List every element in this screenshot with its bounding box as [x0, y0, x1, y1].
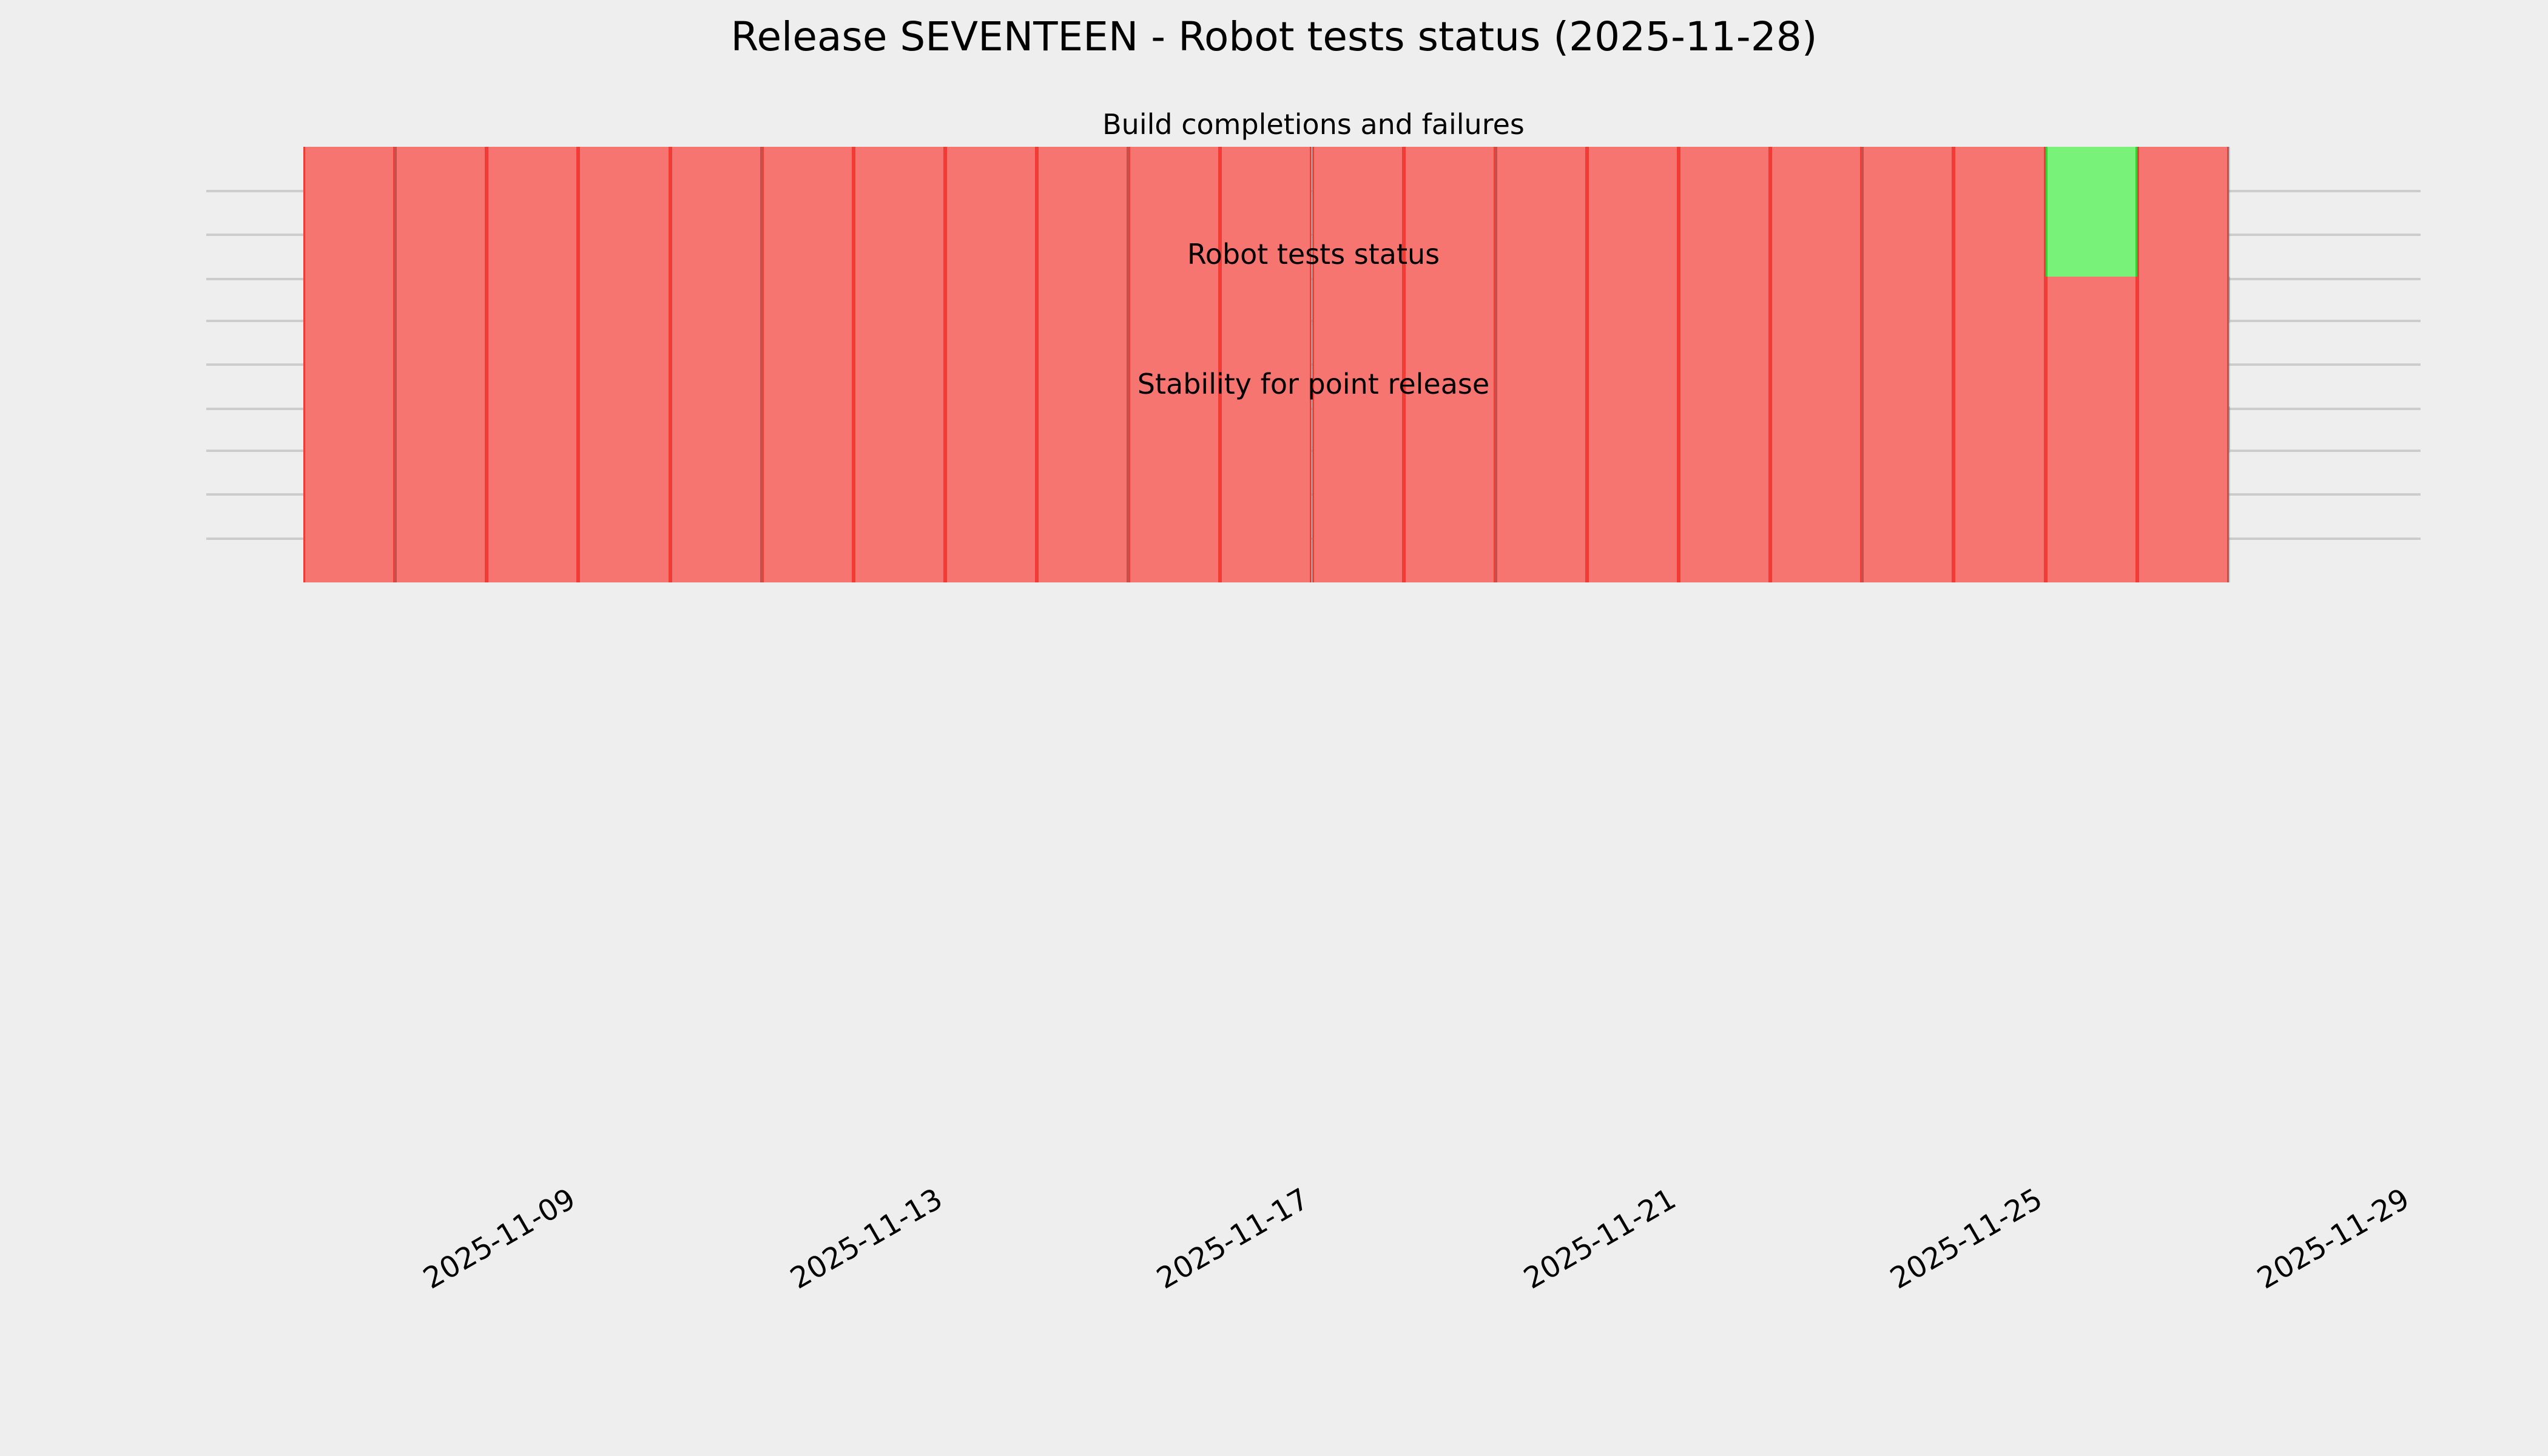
bar-2025-11-25-fail[interactable]: [1862, 406, 1953, 582]
bar-2025-11-27-fail[interactable]: [2046, 406, 2137, 582]
bar-2025-11-23-fail[interactable]: [1679, 406, 1770, 582]
x-tick-label: 2025-11-13: [784, 1182, 948, 1296]
bar-2025-11-26-fail[interactable]: [1953, 406, 2045, 582]
vertical-gridline: [1861, 406, 1863, 582]
x-tick-label: 2025-11-17: [1151, 1182, 1315, 1296]
bar-2025-11-18-fail[interactable]: [1220, 406, 1312, 582]
bar-2025-11-15-fail[interactable]: [945, 406, 1037, 582]
bar-2025-11-21-fail[interactable]: [1495, 406, 1587, 582]
vertical-gridline: [761, 406, 763, 582]
bar-2025-11-14-fail[interactable]: [854, 406, 945, 582]
bar-2025-11-11-fail[interactable]: [578, 406, 670, 582]
bar-2025-11-13-fail[interactable]: [762, 406, 854, 582]
bar-2025-11-24-fail[interactable]: [1770, 406, 1862, 582]
x-tick-label: 2025-11-25: [1885, 1182, 2049, 1296]
x-tick-label: 2025-11-21: [1518, 1182, 1682, 1296]
bar-series: [206, 406, 2421, 582]
bar-2025-11-12-fail[interactable]: [670, 406, 762, 582]
x-tick-label: 2025-11-29: [2251, 1182, 2415, 1296]
bar-2025-11-09-fail[interactable]: [395, 406, 487, 582]
bar-2025-11-10-fail[interactable]: [487, 406, 578, 582]
bar-2025-11-16-fail[interactable]: [1037, 406, 1128, 582]
x-tick-label: 2025-11-09: [417, 1182, 581, 1296]
bar-2025-11-08-fail[interactable]: [303, 406, 395, 582]
figure-suptitle: Release SEVENTEEN - Robot tests status (…: [0, 13, 2548, 60]
x-axis-tick-labels: 2025-11-092025-11-132025-11-172025-11-21…: [0, 1182, 2548, 1364]
figure-canvas: Release SEVENTEEN - Robot tests status (…: [0, 0, 2548, 1456]
subplot-title: Build completions and failures: [206, 108, 2421, 141]
bar-2025-11-22-fail[interactable]: [1587, 406, 1679, 582]
vertical-gridline: [394, 406, 396, 582]
plot-area: [206, 406, 2421, 582]
bar-2025-11-28-fail[interactable]: [2137, 406, 2229, 582]
bar-2025-11-20-fail[interactable]: [1404, 406, 1495, 582]
subplot-title: Robot tests status: [206, 238, 2421, 271]
bar-2025-11-19-fail[interactable]: [1312, 406, 1404, 582]
subplot-title: Stability for point release: [206, 368, 2421, 400]
vertical-gridline: [1127, 406, 1130, 582]
bar-2025-11-17-fail[interactable]: [1128, 406, 1220, 582]
vertical-gridline: [1494, 406, 1497, 582]
vertical-gridline: [2228, 406, 2230, 582]
